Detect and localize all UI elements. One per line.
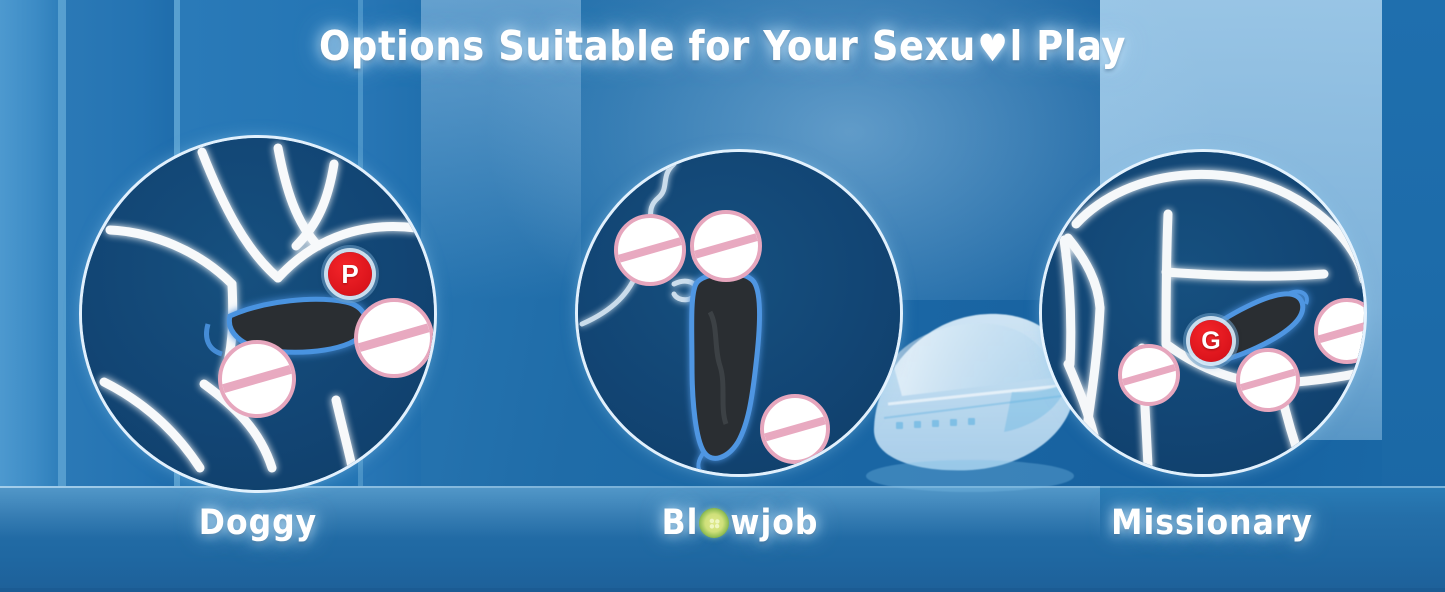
censor-dot: [614, 214, 686, 286]
option-circle-blowjob[interactable]: [578, 152, 900, 474]
option-label-doggy: Doggy: [130, 503, 386, 543]
censor-dot: [760, 394, 830, 464]
badge-label: P: [341, 259, 358, 290]
badge-label: G: [1201, 327, 1220, 356]
banner-title: Options Suitable for Your Sexu♥l Play: [0, 22, 1445, 70]
missionary-position-icon: [1042, 152, 1364, 474]
censor-dot: [1236, 348, 1300, 412]
censor-dot: [690, 210, 762, 282]
heart-icon: ♥: [977, 26, 1008, 70]
badge-p: P: [328, 252, 372, 296]
censor-dot: [1118, 344, 1180, 406]
background-panel-left-1: [0, 0, 58, 500]
cucumber-slice-icon: [699, 508, 729, 538]
censor-dot: [218, 340, 296, 418]
product-feature-banner: Options Suitable for Your Sexu♥l Play: [0, 0, 1445, 592]
title-suffix: l Play: [1010, 22, 1126, 70]
background-bottom-edge: [0, 588, 1445, 592]
option-label-blowjob: Blwjob: [612, 503, 868, 543]
title-prefix: Options Suitable for Your Sexu: [319, 22, 976, 70]
background-panel-left-2: [58, 0, 66, 500]
option-label-missionary: Missionary: [1082, 503, 1342, 543]
blowjob-position-icon: [578, 152, 900, 474]
badge-g: G: [1190, 320, 1232, 362]
option-circle-doggy[interactable]: P: [82, 138, 434, 490]
censor-dot: [354, 298, 434, 378]
option-circle-missionary[interactable]: G: [1042, 152, 1364, 474]
label-suffix: wjob: [730, 503, 818, 543]
label-prefix: Bl: [662, 503, 699, 543]
